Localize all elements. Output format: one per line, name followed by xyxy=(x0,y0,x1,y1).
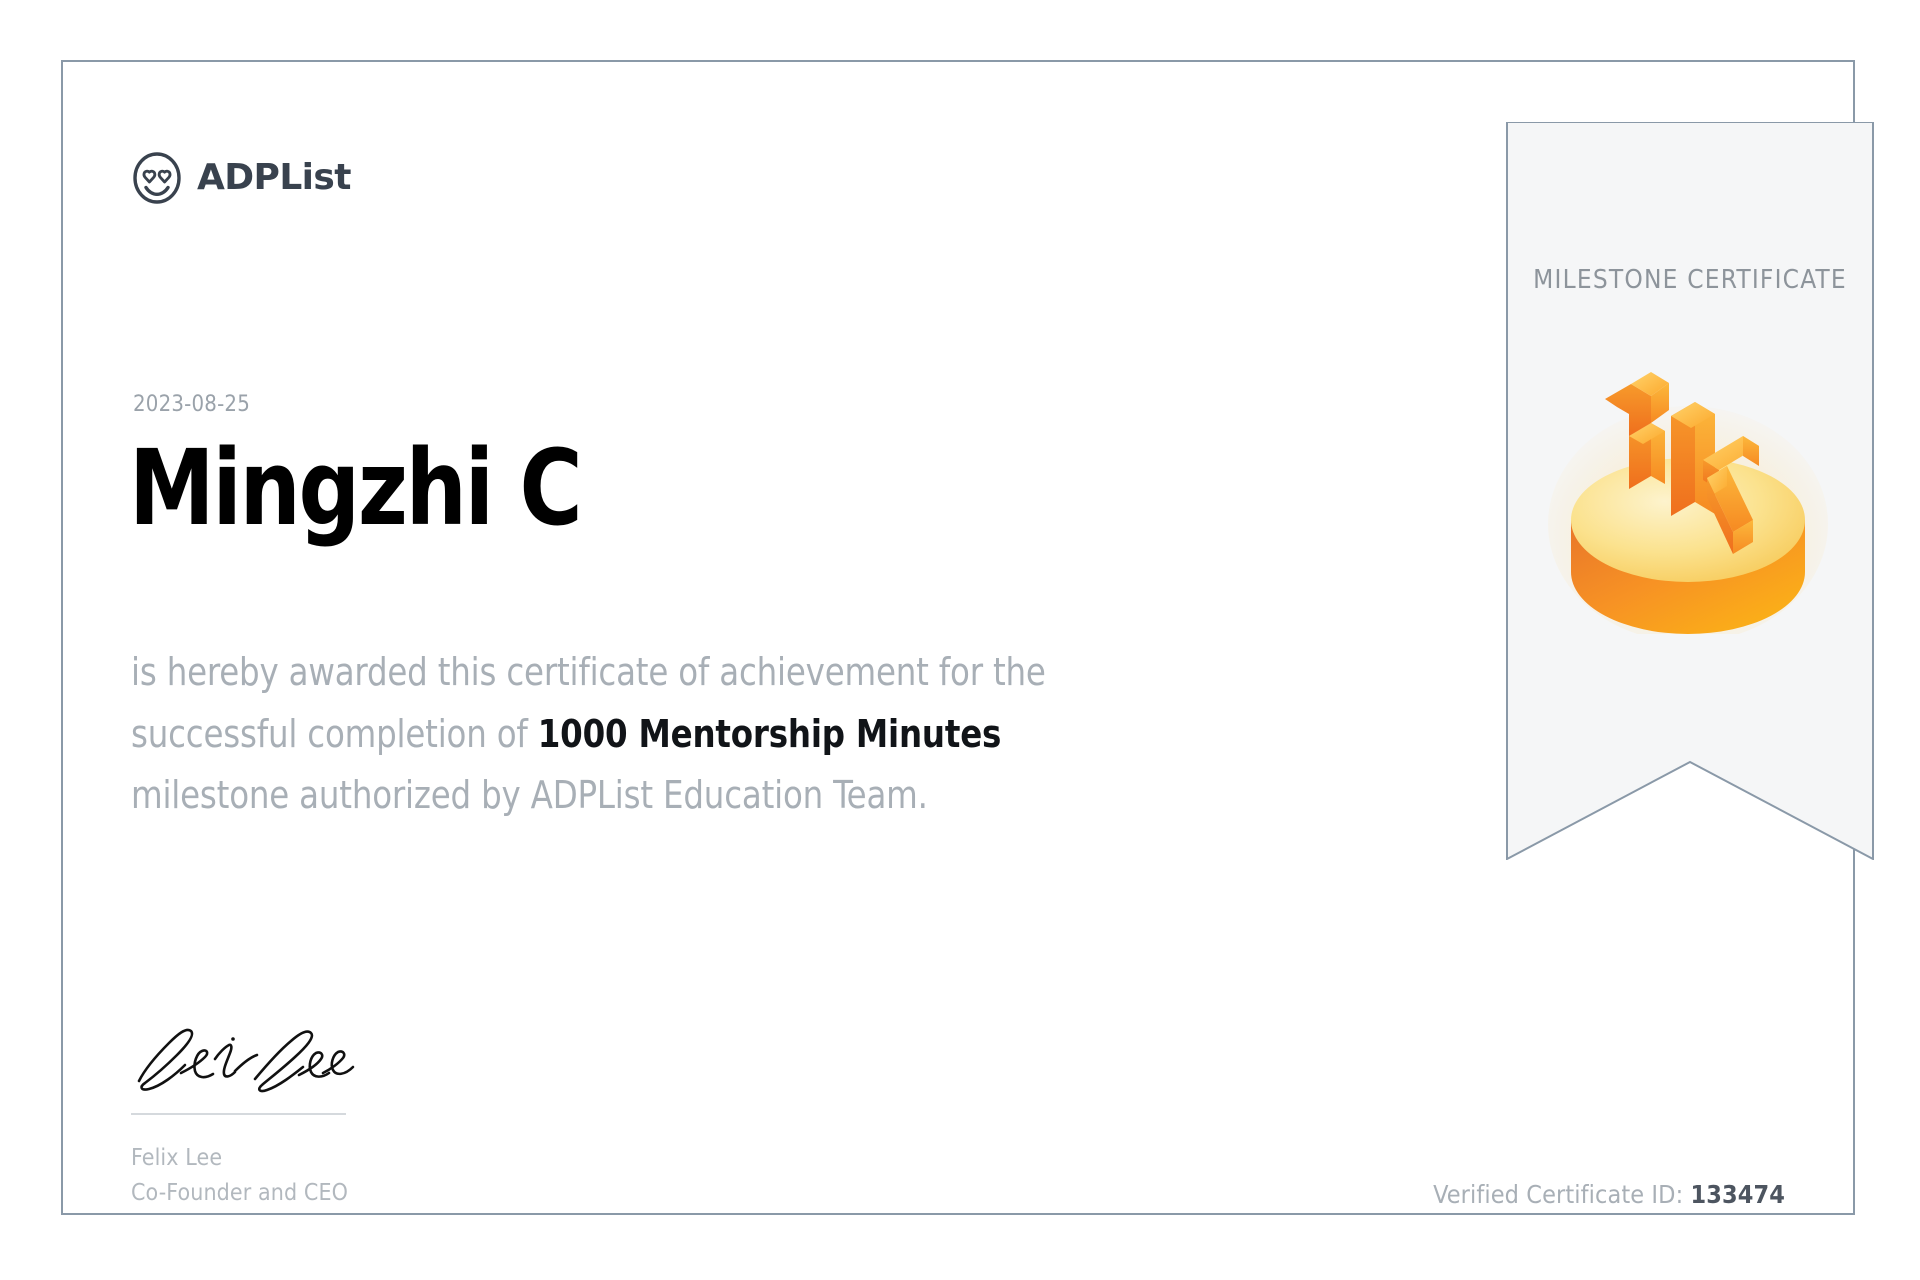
handwritten-signature-icon xyxy=(131,1017,361,1107)
brand-name: ADPList xyxy=(197,160,351,196)
adplist-heart-eyes-smiley-icon xyxy=(131,152,183,204)
recipient-name: Mingzhi C xyxy=(129,434,580,543)
certificate-id-row: Verified Certificate ID: 133474 xyxy=(1433,1180,1785,1209)
signature-block: Felix Lee Co-Founder and CEO xyxy=(131,1017,361,1210)
award-body-text: is hereby awarded this certificate of ac… xyxy=(131,642,1129,827)
verified-label: Verified Certificate ID: xyxy=(1433,1180,1683,1209)
certificate-card: MILESTONE CERTIFICATE xyxy=(61,60,1855,1215)
body-suffix: milestone authorized by ADPList Educatio… xyxy=(131,773,928,817)
milestone-label: 1000 Mentorship Minutes xyxy=(538,712,1001,756)
ribbon-heading: MILESTONE CERTIFICATE xyxy=(1506,265,1874,295)
certificate-id-value: 133474 xyxy=(1691,1180,1786,1209)
signatory-name: Felix Lee xyxy=(131,1141,361,1176)
signature-rule xyxy=(131,1113,346,1115)
milestone-badge-icon xyxy=(1543,324,1833,634)
signatory-title: Co-Founder and CEO xyxy=(131,1176,361,1211)
brand-logo: ADPList xyxy=(131,152,351,204)
award-date: 2023-08-25 xyxy=(133,392,250,417)
